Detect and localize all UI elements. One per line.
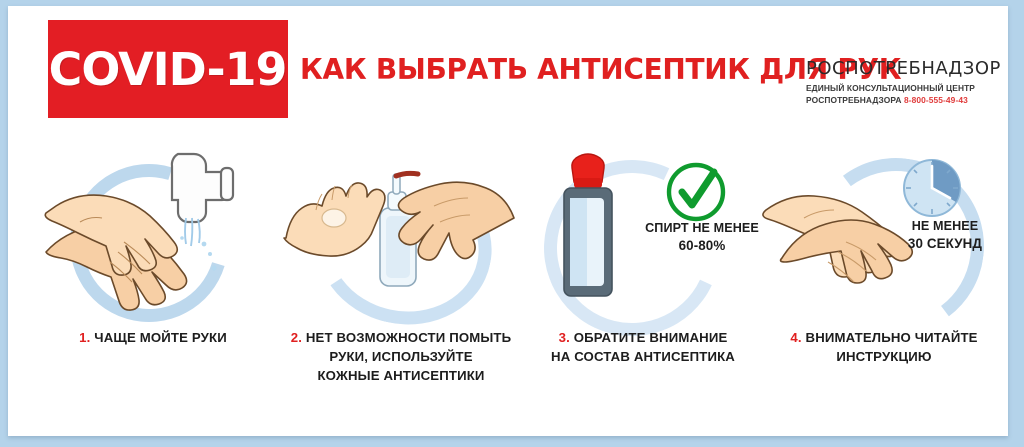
- hotline-phone: 8-800-555-49-43: [904, 95, 968, 105]
- step-1-line-1: 1. ЧАЩЕ МОЙТЕ РУКИ: [28, 328, 278, 347]
- covid-badge: COVID-19: [48, 20, 288, 118]
- step-1-text-1: ЧАЩЕ МОЙТЕ РУКИ: [94, 330, 227, 345]
- step-3-text-2: НА СОСТАВ АНТИСЕПТИКА: [524, 347, 762, 366]
- organization-block: РОСПОТРЕБНАДЗОР ЕДИНЫЙ КОНСУЛЬТАЦИОННЫЙ …: [806, 58, 996, 106]
- page-title: КАК ВЫБРАТЬ АНТИСЕПТИК ДЛЯ РУК: [300, 53, 790, 86]
- step-3-text-1: ОБРАТИТЕ ВНИМАНИЕ: [574, 330, 728, 345]
- step-panel-1: 1. ЧАЩЕ МОЙТЕ РУКИ: [28, 146, 278, 426]
- step-3-caption: 3. ОБРАТИТЕ ВНИМАНИЕ НА СОСТАВ АНТИСЕПТИ…: [524, 328, 762, 366]
- step-2-number: 2.: [291, 330, 302, 345]
- alcohol-label-line-2: 60-80%: [642, 237, 762, 254]
- step-2-line-1: 2. НЕТ ВОЗМОЖНОСТИ ПОМЫТЬ: [276, 328, 526, 347]
- organization-genitive: РОСПОТРЕБНАДЗОРА: [806, 95, 902, 105]
- step-2-caption: 2. НЕТ ВОЗМОЖНОСТИ ПОМЫТЬ РУКИ, ИСПОЛЬЗУ…: [276, 328, 526, 385]
- step-2-text-1: НЕТ ВОЗМОЖНОСТИ ПОМЫТЬ: [306, 330, 511, 345]
- organization-phone-line: РОСПОТРЕБНАДЗОРА 8-800-555-49-43: [806, 95, 996, 107]
- step-panel-4: НЕ МЕНЕЕ 30 СЕКУНД 4. ВНИМАТЕЛЬНО ЧИТАЙТ…: [760, 146, 1008, 426]
- step-4-illustration: НЕ МЕНЕЕ 30 СЕКУНД: [760, 146, 1008, 321]
- step-panel-3: СПИРТ НЕ МЕНЕЕ 60-80% 3. ОБРАТИТЕ ВНИМАН…: [524, 146, 762, 426]
- step-1-number: 1.: [79, 330, 90, 345]
- duration-label-line-1: НЕ МЕНЕЕ: [890, 218, 1000, 235]
- poster-card: COVID-19 КАК ВЫБРАТЬ АНТИСЕПТИК ДЛЯ РУК …: [8, 6, 1008, 436]
- step-panel-2: 2. НЕТ ВОЗМОЖНОСТИ ПОМЫТЬ РУКИ, ИСПОЛЬЗУ…: [276, 146, 526, 426]
- step-4-text-2: ИНСТРУКЦИЮ: [760, 347, 1008, 366]
- hand-sanitizer-pump-bottle-icon: [276, 146, 526, 321]
- step-1-illustration: [28, 146, 278, 321]
- step-3-number: 3.: [559, 330, 570, 345]
- alcohol-label-line-1: СПИРТ НЕ МЕНЕЕ: [642, 220, 762, 237]
- poster-header: COVID-19 КАК ВЫБРАТЬ АНТИСЕПТИК ДЛЯ РУК …: [8, 6, 1008, 141]
- duration-label: НЕ МЕНЕЕ 30 СЕКУНД: [890, 218, 1000, 252]
- infographic-poster: COVID-19 КАК ВЫБРАТЬ АНТИСЕПТИК ДЛЯ РУК …: [0, 0, 1024, 447]
- consulting-center-line: ЕДИНЫЙ КОНСУЛЬТАЦИОННЫЙ ЦЕНТР: [806, 83, 996, 95]
- organization-name: РОСПОТРЕБНАДЗОР: [806, 58, 996, 79]
- step-2-text-2: РУКИ, ИСПОЛЬЗУЙТЕ: [276, 347, 526, 366]
- step-2-text-3: КОЖНЫЕ АНТИСЕПТИКИ: [276, 366, 526, 385]
- covid-badge-label: COVID-19: [49, 43, 287, 96]
- duration-label-line-2: 30 СЕКУНД: [890, 235, 1000, 252]
- step-2-illustration: [276, 146, 526, 321]
- steps-row: 1. ЧАЩЕ МОЙТЕ РУКИ: [8, 146, 1008, 426]
- step-4-number: 4.: [790, 330, 801, 345]
- step-1-caption: 1. ЧАЩЕ МОЙТЕ РУКИ: [28, 328, 278, 347]
- washing-hands-under-faucet-icon: [28, 146, 278, 321]
- step-3-line-1: 3. ОБРАТИТЕ ВНИМАНИЕ: [524, 328, 762, 347]
- step-4-caption: 4. ВНИМАТЕЛЬНО ЧИТАЙТЕ ИНСТРУКЦИЮ: [760, 328, 1008, 366]
- step-4-text-1: ВНИМАТЕЛЬНО ЧИТАЙТЕ: [806, 330, 978, 345]
- step-3-illustration: СПИРТ НЕ МЕНЕЕ 60-80%: [524, 146, 762, 321]
- alcohol-content-label: СПИРТ НЕ МЕНЕЕ 60-80%: [642, 220, 762, 254]
- organization-contact: ЕДИНЫЙ КОНСУЛЬТАЦИОННЫЙ ЦЕНТР РОСПОТРЕБН…: [806, 83, 996, 106]
- step-4-line-1: 4. ВНИМАТЕЛЬНО ЧИТАЙТЕ: [760, 328, 1008, 347]
